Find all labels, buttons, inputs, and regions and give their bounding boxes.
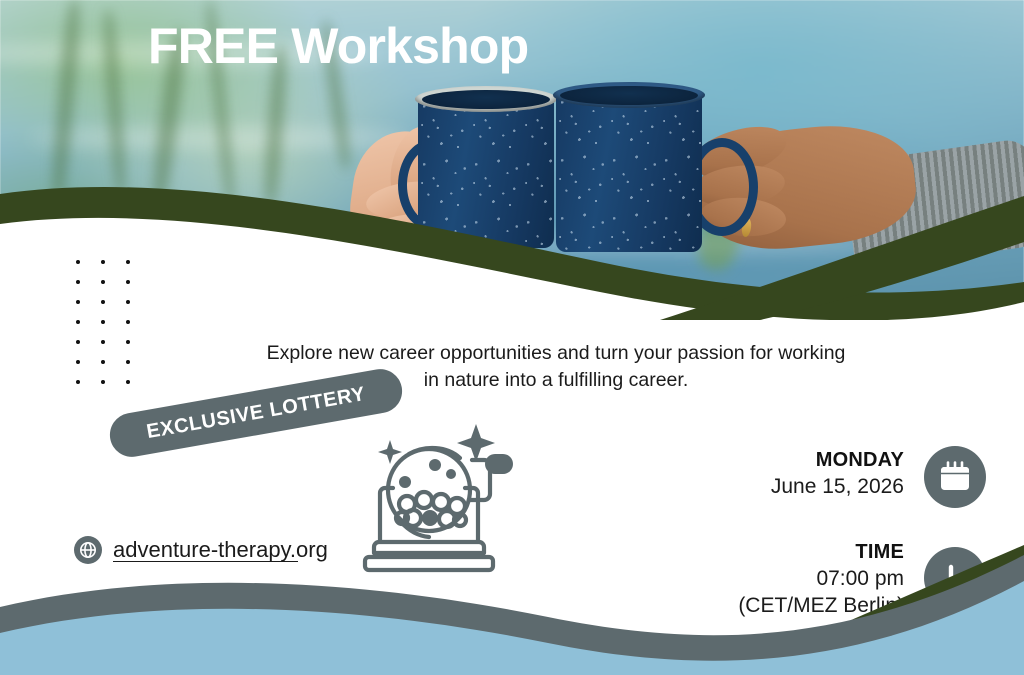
time-block: TIME 07:00 pm (CET/MEZ Berlin) (738, 540, 904, 620)
dot (76, 340, 80, 344)
dot (126, 320, 130, 324)
dot (101, 340, 105, 344)
time-timezone: (CET/MEZ Berlin) (738, 592, 904, 619)
dot (101, 280, 105, 284)
dot (101, 260, 105, 264)
mug-speckles (556, 92, 702, 252)
dot (101, 360, 105, 364)
left-mug-interior (422, 90, 550, 109)
dot (126, 340, 130, 344)
lottery-machine-icon (357, 418, 517, 578)
left-mug (418, 96, 554, 248)
right-mug-interior (560, 86, 698, 105)
globe-icon (74, 536, 102, 564)
time-value: 07:00 pm (738, 565, 904, 592)
dot (76, 300, 80, 304)
dot (76, 280, 80, 284)
right-mug (556, 92, 702, 252)
poster-canvas: FREE Workshop Explore new career opportu… (0, 0, 1024, 675)
clock-icon (937, 560, 973, 596)
dot (76, 380, 80, 384)
page-title: FREE Workshop (148, 18, 528, 76)
dot (126, 280, 130, 284)
time-text-group: TIME 07:00 pm (CET/MEZ Berlin) (738, 540, 904, 620)
dot (76, 360, 80, 364)
ribbon-label: EXCLUSIVE LOTTERY (145, 382, 367, 443)
dot (101, 300, 105, 304)
dot (126, 260, 130, 264)
website-link[interactable]: adventure-therapy.org (74, 536, 328, 564)
time-label: TIME (738, 540, 904, 565)
date-block: MONDAY June 15, 2026 (771, 448, 904, 500)
date-day-label: MONDAY (771, 448, 904, 473)
dot (76, 320, 80, 324)
website-url-text: adventure-therapy.org (113, 537, 328, 563)
dot (76, 260, 80, 264)
calendar-icon (937, 459, 973, 495)
clock-badge (924, 547, 986, 609)
date-text-group: MONDAY June 15, 2026 (771, 448, 904, 500)
dot (126, 380, 130, 384)
calendar-badge (924, 446, 986, 508)
dot-grid-decoration (76, 260, 151, 400)
dot (101, 380, 105, 384)
dot (126, 360, 130, 364)
dot (126, 300, 130, 304)
mug-speckles (418, 96, 554, 248)
date-value: June 15, 2026 (771, 473, 904, 500)
dot (101, 320, 105, 324)
